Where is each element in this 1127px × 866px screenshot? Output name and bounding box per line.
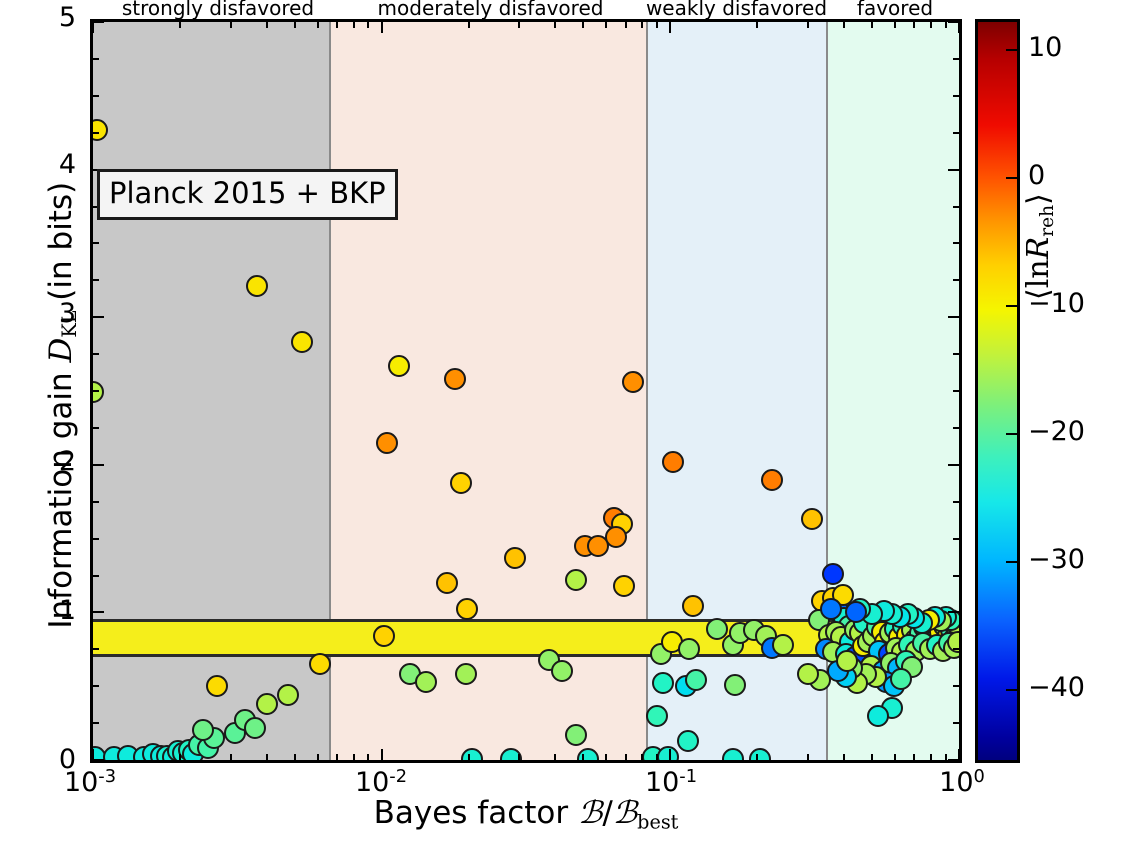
zone-label-moderately-disfavored: moderately disfavored: [336, 0, 645, 20]
x-tick-top: [518, 22, 520, 28]
x-tick: [625, 754, 627, 760]
y-tick-right: [953, 242, 959, 244]
x-tick: [317, 754, 319, 760]
y-tick-right: [953, 95, 959, 97]
y-tick: [93, 648, 99, 650]
x-tick: [367, 754, 369, 760]
data-point: [867, 705, 889, 727]
y-tick: [93, 390, 99, 392]
figure-root: Information gain DKL (in bits) Bayes fac…: [0, 0, 1127, 866]
y-axis-label: Information gain DKL (in bits): [43, 25, 81, 785]
data-point: [461, 748, 483, 763]
x-tick-top: [554, 22, 556, 28]
x-tick-label-2: 10-1: [611, 766, 731, 798]
y-tick-right: [953, 58, 959, 60]
x-tick-top: [336, 22, 338, 28]
colorbar-tick: [1006, 49, 1018, 51]
y-tick-right: [953, 353, 959, 355]
data-point: [622, 371, 644, 393]
y-tick-label-4: 4: [36, 149, 76, 180]
colorbar: [975, 19, 1020, 763]
x-tick-top: [582, 22, 584, 28]
x-tick-top: [894, 22, 896, 28]
y-tick: [93, 685, 99, 687]
data-point: [613, 575, 635, 597]
x-tick: [92, 749, 94, 760]
x-tick: [930, 754, 932, 760]
data-point: [388, 355, 410, 377]
y-tick: [93, 316, 104, 318]
y-tick: [93, 353, 99, 355]
y-tick-label-3: 3: [36, 298, 76, 329]
data-point: [206, 675, 228, 697]
x-tick: [807, 754, 809, 760]
x-tick: [945, 754, 947, 760]
data-point: [376, 432, 398, 454]
x-tick-top: [367, 22, 369, 28]
colorbar-tick: [1006, 305, 1018, 307]
data-point: [772, 634, 794, 656]
x-tick: [336, 754, 338, 760]
data-point: [551, 660, 573, 682]
data-point: [565, 724, 587, 746]
colorbar-tick-label: −40: [1028, 672, 1085, 703]
y-tick: [93, 58, 99, 60]
x-tick: [641, 754, 643, 760]
data-point: [256, 693, 278, 715]
data-point: [677, 730, 699, 752]
y-tick: [93, 538, 99, 540]
x-tick-top: [669, 22, 671, 33]
x-tick-top: [625, 22, 627, 28]
colorbar-tick-label: −30: [1028, 544, 1085, 575]
colorbar-tick-label: 10: [1028, 32, 1062, 63]
data-point: [822, 563, 844, 585]
y-tick: [93, 132, 99, 134]
x-tick-top: [294, 22, 296, 28]
y-tick-right: [953, 206, 959, 208]
x-tick-top: [756, 22, 758, 28]
x-tick: [179, 754, 181, 760]
y-tick: [93, 279, 99, 281]
data-point: [90, 119, 108, 141]
x-tick-top: [913, 22, 915, 28]
y-tick-right: [953, 132, 959, 134]
x-tick-top: [945, 22, 947, 28]
y-tick-right: [953, 390, 959, 392]
colorbar-tick: [1006, 433, 1018, 435]
x-tick-top: [656, 22, 658, 28]
colorbar-tick-label: −20: [1028, 416, 1085, 447]
data-point: [450, 472, 472, 494]
colorbar-tick: [1006, 561, 1018, 563]
x-tick: [353, 754, 355, 760]
x-tick: [266, 754, 268, 760]
x-tick-top: [230, 22, 232, 28]
x-tick: [843, 754, 845, 760]
y-tick-right: [953, 685, 959, 687]
colorbar-label: ⟨lnRreh⟩: [1021, 100, 1058, 300]
y-tick: [93, 95, 99, 97]
x-tick: [468, 754, 470, 760]
x-tick-top: [605, 22, 607, 28]
x-tick: [656, 754, 658, 760]
x-tick-top: [641, 22, 643, 28]
x-tick-label-1: 10-2: [321, 766, 441, 798]
y-tick-right: [953, 501, 959, 503]
y-tick-right: [953, 279, 959, 281]
data-point: [662, 451, 684, 473]
y-tick-label-2: 2: [36, 446, 76, 477]
y-tick-label-5: 5: [36, 2, 76, 33]
colorbar-tick: [1006, 689, 1018, 691]
y-tick: [93, 21, 104, 23]
dataset-annotation: Planck 2015 + BKP: [97, 169, 398, 220]
data-point: [309, 653, 331, 675]
x-tick: [913, 754, 915, 760]
x-tick: [582, 754, 584, 760]
y-tick-right: [948, 611, 959, 613]
y-tick-right: [948, 169, 959, 171]
data-point: [244, 717, 266, 739]
x-tick-top: [468, 22, 470, 28]
y-tick: [93, 722, 99, 724]
x-tick: [605, 754, 607, 760]
y-tick: [93, 611, 104, 613]
x-tick: [381, 749, 383, 760]
data-point: [652, 672, 674, 694]
x-tick-top: [807, 22, 809, 28]
x-tick-top: [92, 22, 94, 33]
x-tick: [518, 754, 520, 760]
x-tick-top: [958, 22, 960, 33]
x-tick: [294, 754, 296, 760]
data-point: [415, 671, 437, 693]
x-tick-top: [179, 22, 181, 28]
data-point: [646, 705, 668, 727]
colorbar-tick: [1006, 177, 1018, 179]
y-tick-right: [953, 722, 959, 724]
data-point: [890, 668, 912, 690]
y-tick-label-1: 1: [36, 595, 76, 626]
y-tick-right: [953, 427, 959, 429]
data-point: [373, 625, 395, 647]
plot-area: Planck 2015 + BKP: [90, 19, 962, 763]
y-tick: [93, 242, 99, 244]
x-tick: [554, 754, 556, 760]
x-tick-label-0: 10-3: [30, 766, 150, 798]
data-point: [724, 674, 746, 696]
x-tick: [669, 749, 671, 760]
y-tick: [93, 464, 104, 466]
x-tick-top: [930, 22, 932, 28]
x-tick: [958, 749, 960, 760]
y-tick: [93, 759, 104, 761]
y-tick: [93, 575, 99, 577]
x-tick-top: [353, 22, 355, 28]
zone-label-strongly-disfavored: strongly disfavored: [100, 0, 336, 20]
x-tick-top: [871, 22, 873, 28]
x-tick: [871, 754, 873, 760]
x-tick-top: [266, 22, 268, 28]
y-tick-right: [948, 316, 959, 318]
y-tick-right: [953, 575, 959, 577]
y-tick-right: [953, 538, 959, 540]
x-tick-top: [381, 22, 383, 33]
data-point: [565, 569, 587, 591]
x-tick-top: [843, 22, 845, 28]
data-point: [657, 746, 679, 763]
y-tick: [93, 501, 99, 503]
zone-label-favored: favored: [828, 0, 962, 20]
y-tick: [93, 427, 99, 429]
x-tick-top: [317, 22, 319, 28]
y-tick-right: [948, 464, 959, 466]
x-tick: [230, 754, 232, 760]
data-point: [504, 547, 526, 569]
x-axis-label: Bayes factor ℬ/ℬbest: [90, 795, 962, 833]
y-tick-right: [953, 648, 959, 650]
x-tick: [894, 754, 896, 760]
data-point: [761, 469, 783, 491]
x-tick-label-3: 100: [902, 766, 1022, 798]
zone-label-weakly-disfavored: weakly disfavored: [645, 0, 828, 20]
x-tick: [756, 754, 758, 760]
